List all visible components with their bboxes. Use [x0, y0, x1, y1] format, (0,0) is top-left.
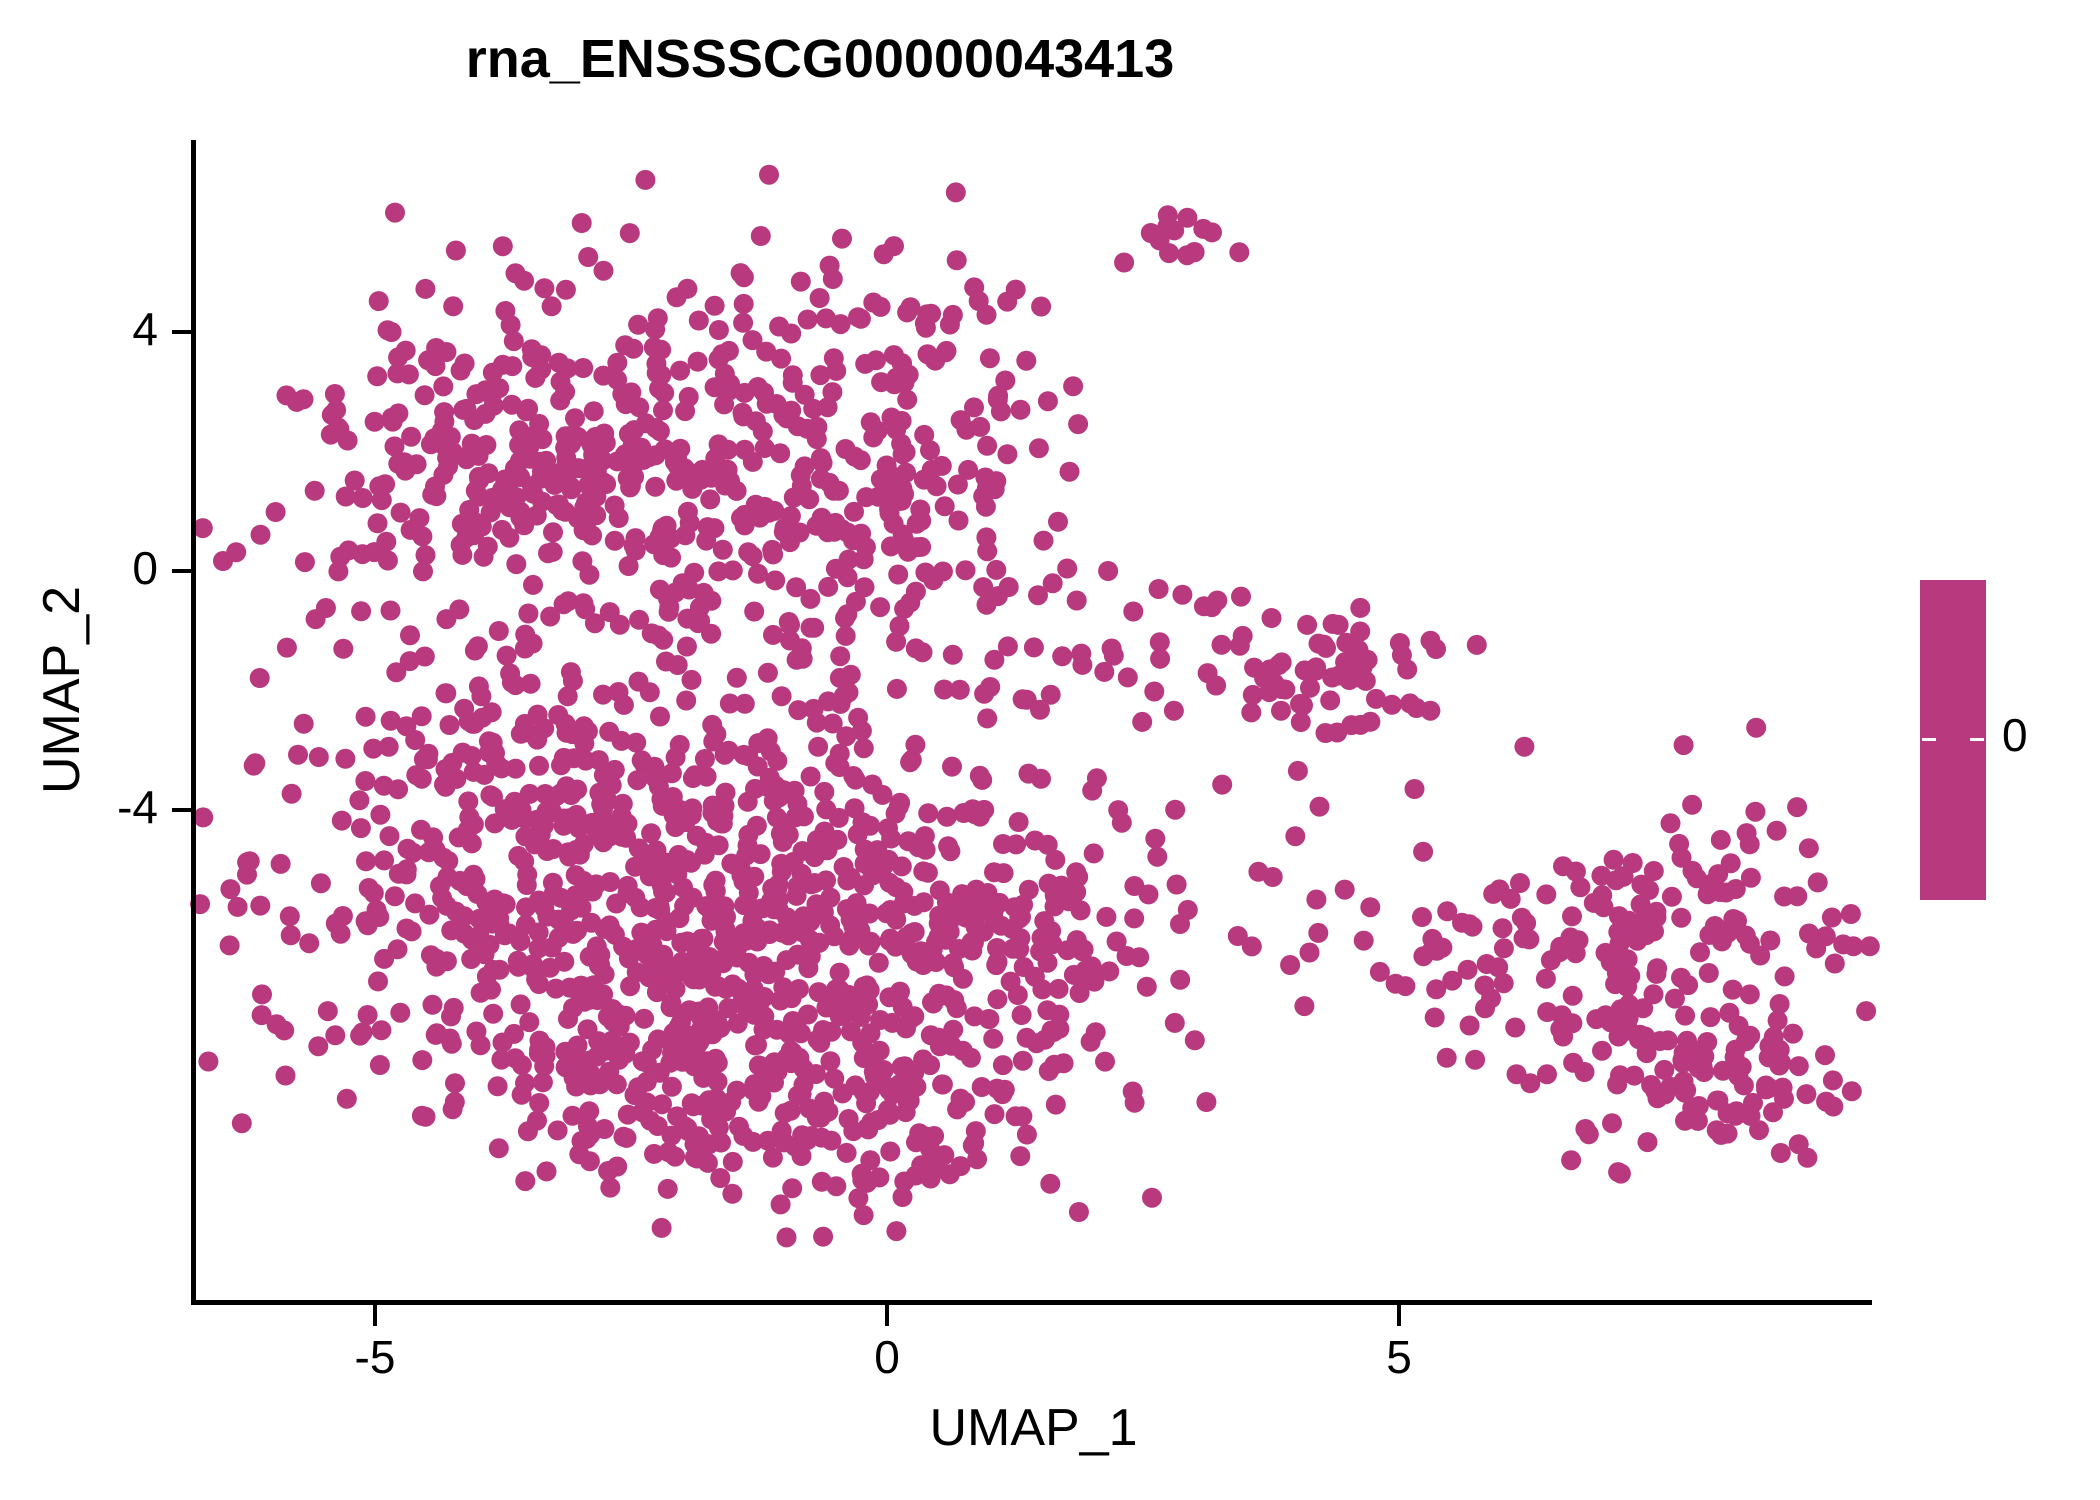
- x-tick-label-5: 5: [1319, 1330, 1479, 1384]
- y-tick-mark-neg4: [172, 808, 194, 812]
- x-tick-label-neg5: -5: [295, 1330, 455, 1384]
- scatter-points-layer: [195, 140, 1872, 1302]
- page-title: rna_ENSSSCG00000043413: [0, 28, 1640, 90]
- colorbar-tick-left: [1922, 738, 1936, 741]
- y-axis-title: UMAP_2: [32, 380, 92, 1000]
- y-tick-label-4: 4: [18, 302, 158, 356]
- plot-panel: [195, 140, 1872, 1302]
- y-tick-mark-4: [172, 330, 194, 334]
- colorbar-legend: 0: [1920, 580, 2100, 920]
- y-axis-line: [191, 140, 196, 1305]
- x-tick-mark-5: [1397, 1304, 1401, 1326]
- y-tick-mark-0: [172, 569, 194, 573]
- x-tick-label-0: 0: [807, 1330, 967, 1384]
- x-axis-title: UMAP_1: [195, 1398, 1872, 1458]
- x-tick-mark-0: [885, 1304, 889, 1326]
- umap-scatter-plot: rna_ENSSSCG00000043413 4 0 -4 -5 0 5 UMA…: [0, 0, 2100, 1500]
- x-axis-line: [191, 1300, 1872, 1305]
- colorbar-tick-label-0: 0: [2002, 708, 2028, 762]
- x-tick-mark-neg5: [373, 1304, 377, 1326]
- colorbar-tick-right: [1970, 738, 1984, 741]
